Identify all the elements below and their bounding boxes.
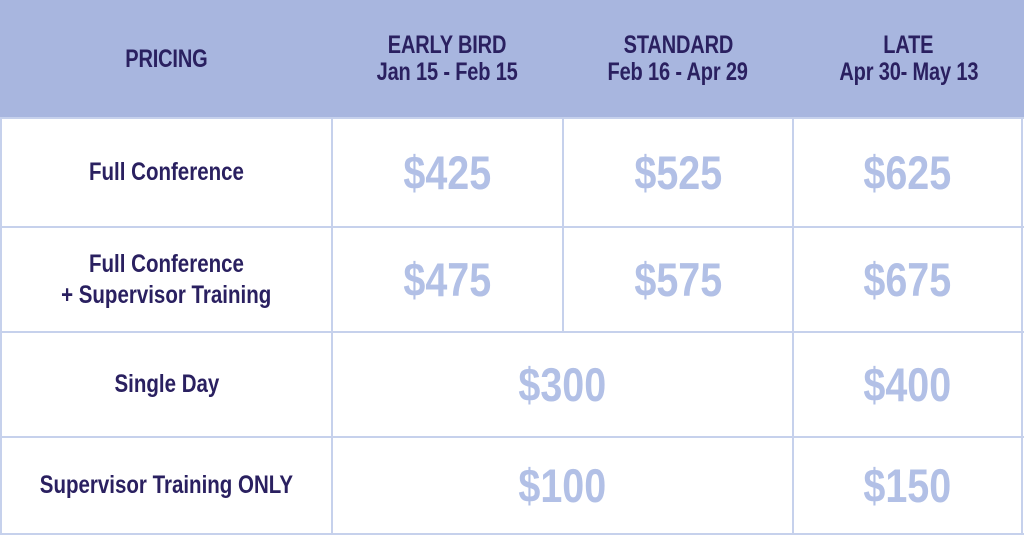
header-late-title: LATE bbox=[883, 32, 933, 58]
pricing-table: PRICING EARLY BIRD Jan 15 - Feb 15 STAND… bbox=[0, 0, 1024, 537]
header-late-dates: Apr 30- May 13 bbox=[839, 59, 978, 85]
table-row-1-standard-price: $525 bbox=[564, 119, 792, 226]
table-row-4-merged-price: $100 bbox=[333, 438, 792, 533]
header-early-bird-dates: Jan 15 - Feb 15 bbox=[377, 59, 518, 85]
header-early-bird-title: EARLY BIRD bbox=[388, 32, 506, 58]
table-row-3-late-price: $400 bbox=[794, 333, 1021, 436]
header-cell-pricing: PRICING bbox=[0, 0, 332, 117]
header-standard-title: STANDARD bbox=[623, 32, 732, 58]
table-row-4-late-price: $150 bbox=[794, 438, 1021, 533]
table-row-3-merged-price: $300 bbox=[333, 333, 792, 436]
header-standard-dates: Feb 16 - Apr 29 bbox=[608, 59, 748, 85]
table-row-2-label-cell: Full Conference + Supervisor Training bbox=[2, 228, 331, 331]
row-label: Supervisor Training ONLY bbox=[40, 470, 293, 501]
table-row-3-label-cell: Single Day bbox=[2, 333, 331, 436]
price-value: $400 bbox=[864, 361, 952, 408]
price-value: $100 bbox=[519, 462, 607, 509]
table-row-1-early-bird-price: $425 bbox=[333, 119, 562, 226]
price-value: $150 bbox=[864, 462, 952, 509]
table-row-1-late-price: $625 bbox=[794, 119, 1021, 226]
table-row-2-late-price: $675 bbox=[794, 228, 1021, 331]
price-value: $625 bbox=[864, 149, 952, 196]
table-row-1-label-cell: Full Conference bbox=[2, 119, 331, 226]
table-header-row: PRICING EARLY BIRD Jan 15 - Feb 15 STAND… bbox=[0, 0, 1024, 117]
price-value: $525 bbox=[634, 149, 722, 196]
row-label: Single Day bbox=[114, 369, 219, 400]
table-row-4-label-cell: Supervisor Training ONLY bbox=[2, 438, 331, 533]
table-row-2-early-bird-price: $475 bbox=[333, 228, 562, 331]
row-label-line-1: Full Conference bbox=[89, 249, 244, 280]
price-value: $675 bbox=[864, 256, 952, 303]
row-label: Full Conference bbox=[89, 157, 244, 188]
gridline-vertical-right-edge bbox=[1021, 117, 1023, 535]
header-cell-late: LATE Apr 30- May 13 bbox=[793, 0, 1024, 117]
gridline-horizontal-table-bottom bbox=[0, 533, 1024, 535]
header-cell-early-bird: EARLY BIRD Jan 15 - Feb 15 bbox=[332, 0, 563, 117]
price-value: $300 bbox=[519, 361, 607, 408]
price-value: $475 bbox=[404, 256, 492, 303]
table-row-2-standard-price: $575 bbox=[564, 228, 792, 331]
header-pricing-label: PRICING bbox=[125, 46, 207, 72]
header-cell-standard: STANDARD Feb 16 - Apr 29 bbox=[563, 0, 793, 117]
price-value: $425 bbox=[404, 149, 492, 196]
price-value: $575 bbox=[634, 256, 722, 303]
row-label-line-2: + Supervisor Training bbox=[61, 280, 271, 311]
